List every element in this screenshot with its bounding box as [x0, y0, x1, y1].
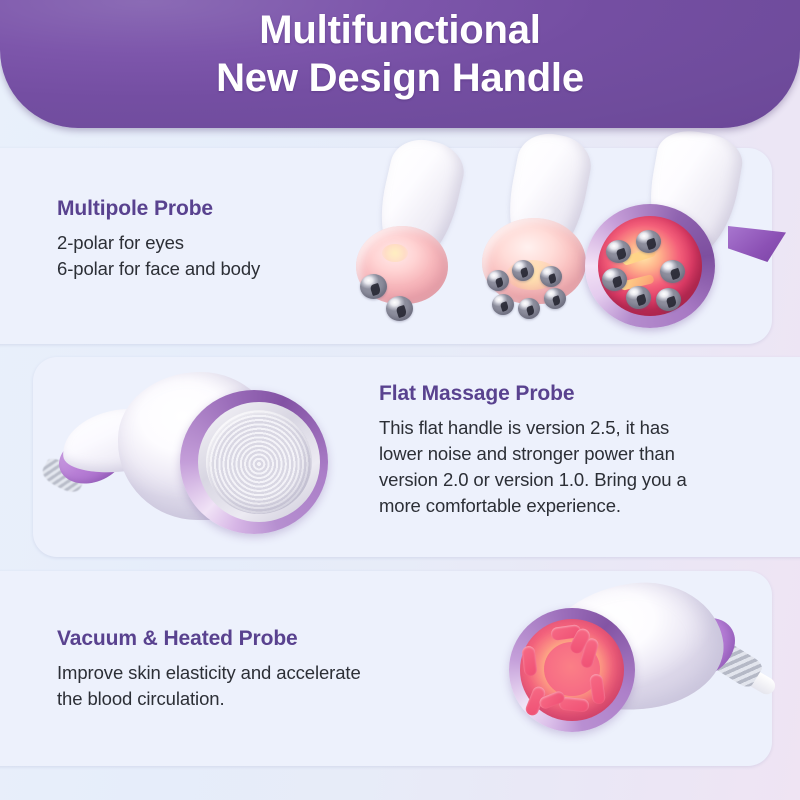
vacuum-heated-probe-illustration [455, 576, 775, 766]
section-body-line: more comfortable experience. [379, 493, 719, 519]
probe-b-electrode [544, 288, 566, 309]
section-body-line: 2-polar for eyes [57, 230, 357, 256]
section-body-line: version 2.0 or version 1.0. Bring you a [379, 467, 719, 493]
section-body-line: the blood circulation. [57, 686, 447, 712]
probe-b-electrode [512, 260, 534, 281]
section-title-multipole-probe: Multipole Probe [57, 197, 357, 221]
probe-c-electrode [660, 260, 685, 283]
multipole-probe-illustration [330, 148, 790, 348]
section-body-line: This flat handle is version 2.5, it has [379, 415, 719, 441]
page-title-line-2: New Design Handle [0, 54, 800, 102]
probe-c-cable [728, 226, 786, 262]
probe-c-electrode [606, 240, 631, 263]
probe-a-electrode [386, 296, 413, 321]
section-body-line: 6-polar for face and body [57, 256, 357, 282]
probe-c-electrode [626, 286, 651, 309]
probe-c-electrode [602, 268, 627, 291]
section-title-vacuum-heated-probe: Vacuum & Heated Probe [57, 627, 447, 651]
section-body-line: lower noise and stronger power than [379, 441, 719, 467]
probe-a-electrode [360, 274, 387, 299]
product-infographic: Multifunctional New Design Handle [0, 0, 800, 800]
header-title-group: Multifunctional New Design Handle [0, 6, 800, 102]
probe-b-electrode [540, 266, 562, 287]
flat-probe-disc [206, 410, 312, 514]
page-title-line-1: Multifunctional [0, 6, 800, 54]
section-text-vacuum-heated-probe: Vacuum & Heated Probe Improve skin elast… [57, 627, 447, 712]
header-banner: Multifunctional New Design Handle [0, 0, 800, 128]
section-title-flat-massage-probe: Flat Massage Probe [379, 382, 719, 406]
section-text-flat-massage-probe: Flat Massage Probe This flat handle is v… [379, 382, 719, 519]
probe-b-electrode [518, 298, 540, 319]
probe-b-electrode [492, 294, 514, 315]
probe-c-electrode [636, 230, 661, 253]
section-text-multipole-probe: Multipole Probe 2-polar for eyes 6-polar… [57, 197, 357, 282]
flat-massage-probe-illustration [40, 352, 370, 557]
probe-a-glow [382, 244, 408, 262]
probe-b-electrode [487, 270, 509, 291]
probe-c-electrode [656, 288, 681, 311]
section-body-line: Improve skin elasticity and accelerate [57, 660, 447, 686]
